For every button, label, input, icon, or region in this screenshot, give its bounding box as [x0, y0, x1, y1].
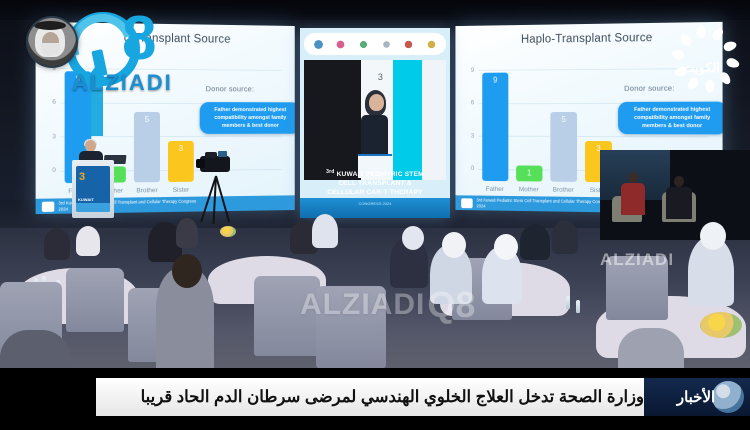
congress-title-line3: CELLULAR CAR-T THERAPY	[327, 189, 423, 196]
panelist-1	[620, 172, 646, 218]
congress-date: CONGRESS 2024	[300, 201, 450, 206]
sponsor-logo-5	[401, 37, 416, 52]
logo-petal	[697, 25, 706, 38]
panelist-head	[628, 172, 638, 183]
logo-petal	[710, 26, 725, 42]
sponsor-logo-3	[356, 37, 371, 52]
flower-arrangement	[700, 312, 742, 338]
projection-screen-center: 3 3rd KUWAIT PEDIATRIC STEM CELL TRANSPL…	[300, 28, 450, 218]
speaker-head	[369, 94, 384, 111]
news-source-badge: الأخبار	[644, 378, 750, 416]
chart-title-left: o-Transplant Source	[36, 31, 295, 46]
bar-brother: 5 Brother	[134, 112, 160, 182]
panelist-body	[621, 183, 645, 215]
audience-member	[44, 228, 70, 260]
side-watermark: ALZIADI	[600, 250, 674, 270]
bar-father: 9 Father	[482, 72, 508, 181]
y-tick-right-3: 0	[471, 165, 474, 172]
slide-footer-logo	[42, 201, 54, 211]
news-globe-icon	[712, 381, 744, 413]
y-tick-left-3: 0	[52, 167, 56, 174]
audience-headdress	[442, 232, 466, 258]
flower-arrangement	[220, 226, 236, 237]
panelist-2	[665, 176, 693, 220]
news-ticker: وزارة الصحة تدخل العلاج الخلوي الهندسي ل…	[96, 378, 654, 416]
audience-head	[172, 254, 202, 288]
donor-source-label-right: Donor source:	[624, 83, 675, 92]
x-label-father: Father	[478, 186, 511, 193]
y-tick-right-2: 3	[471, 133, 474, 140]
video-backdrop-dark	[304, 60, 361, 180]
broadcast-frame: o-Transplant Source 9 6 3 0 9 Father 1	[0, 0, 750, 430]
news-headline: وزارة الصحة تدخل العلاج الخلوي الهندسي ل…	[141, 387, 644, 407]
congress-title-line1: KUWAIT PEDIATRIC STEM	[337, 171, 424, 178]
donor-callout-right: Father demonstrated highest compatibilit…	[618, 102, 723, 135]
congress-title-line2: CELL TRANSPLANT &	[338, 180, 412, 187]
donor-source-label-left: Donor source:	[206, 84, 255, 93]
lectern-ordinal: 3	[79, 171, 85, 183]
live-video-feed: 3	[304, 60, 446, 180]
sponsor-logo-1	[311, 37, 326, 52]
donor-callout-left: Father demonstrated highest compatibilit…	[200, 102, 295, 134]
x-label-brother: Brother	[546, 187, 580, 194]
sponsor-logo-2	[333, 37, 348, 52]
audience-member	[176, 218, 198, 248]
congress-title: 3rd KUWAIT PEDIATRIC STEM CELL TRANSPLAN…	[300, 169, 450, 198]
bar-brother: 5 Brother	[550, 112, 577, 181]
sponsor-logo-6	[424, 37, 439, 52]
audience-headdress	[700, 222, 726, 250]
audience-member	[520, 224, 550, 260]
y-tick-left-1: 6	[52, 99, 56, 106]
camera-lens	[196, 159, 205, 168]
speaker-body	[361, 115, 388, 155]
audience-headdress	[494, 234, 518, 260]
y-tick-right-0: 9	[471, 67, 474, 74]
panelist-head	[674, 176, 684, 187]
slide-number: 3	[378, 72, 383, 82]
x-label-brother: Brother	[130, 187, 164, 194]
kuwait-tv-logo: الكويت	[664, 10, 738, 74]
water-bottle	[566, 296, 570, 309]
logo-petal	[678, 32, 693, 48]
y-tick-left-0: 9	[52, 65, 56, 72]
lectern-band	[76, 203, 110, 212]
tripod-leg	[215, 176, 230, 223]
broadcast-camera	[196, 152, 234, 178]
sponsor-logo-row	[304, 33, 446, 55]
video-backdrop-light	[422, 60, 446, 180]
audience-member	[552, 220, 578, 254]
chair-back	[66, 268, 124, 332]
camera-viewfinder	[218, 151, 227, 157]
chair-back	[254, 276, 320, 356]
audience-head	[402, 226, 424, 250]
y-tick-left-2: 3	[52, 133, 56, 140]
y-tick-right-1: 6	[471, 100, 474, 107]
x-label-sister: Sister	[164, 187, 198, 194]
panelist-body	[666, 187, 692, 219]
news-source-label: الأخبار	[677, 388, 715, 406]
congress-ordinal-suffix: rd	[329, 169, 334, 175]
water-bottle	[576, 300, 580, 313]
x-label-mother: Mother	[512, 186, 545, 193]
camera-tripod	[196, 176, 236, 224]
lectern: 3 KUWAIT	[72, 160, 114, 218]
audience-member	[312, 214, 338, 248]
slide-footer-logo	[461, 198, 472, 208]
sponsor-logo-4	[379, 37, 394, 52]
kuwait-tv-logo-text: الكويت	[664, 60, 738, 76]
bar-sister: 3 Sister	[168, 141, 194, 182]
video-backdrop-cyan	[393, 60, 421, 180]
lectern-banner: 3 KUWAIT	[76, 166, 110, 212]
camera-top-handle	[205, 152, 217, 158]
chair-back	[316, 286, 386, 368]
audience-member	[76, 226, 100, 256]
news-bar-left-pad	[0, 368, 96, 430]
logo-petal	[723, 40, 738, 53]
bar-mother: 1 Mother	[516, 166, 542, 182]
lectern-banner-text: KUWAIT	[78, 197, 94, 202]
news-lower-third: وزارة الصحة تدخل العلاج الخلوي الهندسي ل…	[0, 368, 750, 430]
